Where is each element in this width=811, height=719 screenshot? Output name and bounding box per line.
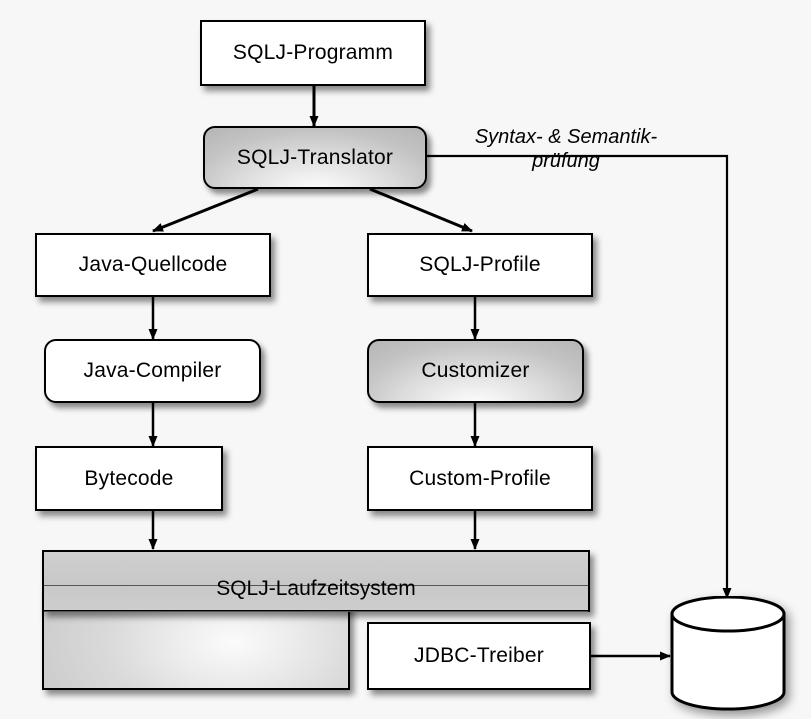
node-sqlj-translator[interactable]: SQLJ-Translator: [203, 126, 427, 189]
node-bytecode-label: Bytecode: [84, 467, 173, 491]
node-java-compiler-label: Java-Compiler: [84, 359, 222, 383]
node-jdbc-treiber[interactable]: JDBC-Treiber: [367, 622, 591, 690]
node-jdbc-treiber-label: JDBC-Treiber: [414, 644, 544, 668]
node-sqlj-laufzeitsystem-label: SQLJ-Laufzeitsystem: [42, 577, 590, 601]
node-sqlj-profile-label: SQLJ-Profile: [419, 253, 540, 277]
node-customizer[interactable]: Customizer: [367, 339, 584, 403]
database-cylinder-icon: [672, 597, 784, 709]
syntax-semantik-pruefung-label: Syntax- & Semantik- prüfung: [446, 126, 686, 173]
node-datenbank[interactable]: [668, 596, 788, 716]
node-customizer-label: Customizer: [421, 359, 529, 383]
laufzeitsystem-divider-lower: [44, 611, 588, 612]
node-custom-profile[interactable]: Custom-Profile: [367, 446, 593, 511]
sqlj-architecture-diagram: SQLJ-Programm SQLJ-Translator Syntax- & …: [0, 0, 811, 719]
node-sqlj-programm[interactable]: SQLJ-Programm: [200, 20, 426, 86]
node-sqlj-translator-label: SQLJ-Translator: [237, 146, 393, 170]
node-sqlj-programm-label: SQLJ-Programm: [233, 41, 393, 65]
node-java-quellcode[interactable]: Java-Quellcode: [35, 233, 271, 297]
node-bytecode[interactable]: Bytecode: [35, 446, 223, 511]
node-java-quellcode-label: Java-Quellcode: [79, 253, 228, 277]
node-sqlj-profile[interactable]: SQLJ-Profile: [367, 233, 593, 297]
node-custom-profile-label: Custom-Profile: [409, 467, 551, 491]
node-java-compiler[interactable]: Java-Compiler: [44, 339, 261, 403]
